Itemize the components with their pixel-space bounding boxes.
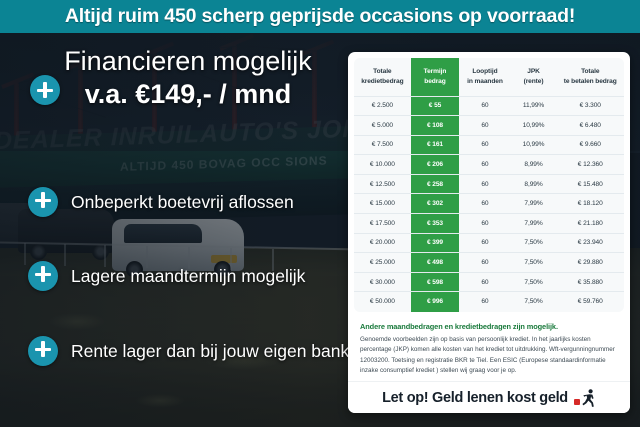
column-header-looptijd: Looptijdin maanden bbox=[459, 58, 510, 96]
headline-line-1: Financieren mogelijk bbox=[28, 47, 348, 76]
table-row: € 5.000€ 1086010,99%€ 6.480 bbox=[354, 116, 624, 136]
table-cell: € 258 bbox=[411, 174, 460, 194]
table-cell: 60 bbox=[459, 194, 510, 214]
bullet-label: Lagere maandtermijn mogelijk bbox=[71, 266, 305, 287]
plus-circle-icon bbox=[28, 336, 58, 366]
table-cell: € 12.500 bbox=[354, 174, 411, 194]
table-cell: 10,99% bbox=[511, 116, 557, 136]
table-cell: € 108 bbox=[411, 116, 460, 136]
table-cell: € 21.180 bbox=[556, 214, 624, 234]
top-promo-banner: Altijd ruim 450 scherp geprijsde occasio… bbox=[0, 0, 640, 33]
promo-bullet-lagere-maandtermijn-mogelijk: Lagere maandtermijn mogelijk bbox=[28, 259, 348, 293]
table-cell: € 2.500 bbox=[354, 96, 411, 116]
table-cell: 60 bbox=[459, 135, 510, 155]
table-cell: € 18.120 bbox=[556, 194, 624, 214]
plus-circle-icon bbox=[28, 187, 58, 217]
headline-line-2: v.a. €149,- / mnd bbox=[28, 79, 348, 110]
table-cell: € 10.000 bbox=[354, 155, 411, 175]
banner-text: Altijd ruim 450 scherp geprijsde occasio… bbox=[65, 5, 575, 28]
table-cell: € 9.660 bbox=[556, 135, 624, 155]
rates-table-body: € 2.500€ 556011,99%€ 3.300€ 5.000€ 10860… bbox=[354, 96, 624, 312]
table-cell: € 55 bbox=[411, 96, 460, 116]
column-header-totale-kredietbedrag: Totalekredietbedrag bbox=[354, 58, 411, 96]
table-cell: 60 bbox=[459, 155, 510, 175]
promo-bullet-onbeperkt-boetevrij-aflossen: Onbeperkt boetevrij aflossen bbox=[28, 185, 348, 219]
column-header-totale-te-betalen-bedrag: Totalete betalen bedrag bbox=[556, 58, 624, 96]
note-body: Genoemde voorbeelden zijn op basis van p… bbox=[360, 335, 618, 376]
table-cell: € 302 bbox=[411, 194, 460, 214]
loan-warning-bar: Let op! Geld lenen kost geld bbox=[348, 381, 630, 413]
table-cell: € 17.500 bbox=[354, 214, 411, 234]
table-row: € 30.000€ 598607,50%€ 35.880 bbox=[354, 272, 624, 292]
table-cell: 7,99% bbox=[511, 214, 557, 234]
warning-text: Let op! Geld lenen kost geld bbox=[382, 390, 568, 406]
column-header-jkp: JPK(rente) bbox=[511, 58, 557, 96]
table-cell: € 161 bbox=[411, 135, 460, 155]
promo-headline: Financieren mogelijk v.a. €149,- / mnd bbox=[28, 47, 348, 110]
table-row: € 7.500€ 1616010,99%€ 9.660 bbox=[354, 135, 624, 155]
table-row: € 50.000€ 996607,50%€ 59.760 bbox=[354, 292, 624, 312]
running-man-with-ball-icon bbox=[574, 389, 596, 407]
table-cell: € 598 bbox=[411, 272, 460, 292]
table-row: € 20.000€ 399607,50%€ 23.940 bbox=[354, 233, 624, 253]
table-row: € 17.500€ 353607,99%€ 21.180 bbox=[354, 214, 624, 234]
table-cell: 60 bbox=[459, 253, 510, 273]
table-cell: 60 bbox=[459, 292, 510, 312]
table-cell: € 20.000 bbox=[354, 233, 411, 253]
table-cell: 8,99% bbox=[511, 174, 557, 194]
table-cell: € 59.760 bbox=[556, 292, 624, 312]
table-row: € 12.500€ 258608,99%€ 15.480 bbox=[354, 174, 624, 194]
table-cell: 7,50% bbox=[511, 292, 557, 312]
table-cell: 60 bbox=[459, 174, 510, 194]
financing-rates-table: Totalekredietbedrag Termijnbedrag Loopti… bbox=[354, 58, 624, 312]
table-cell: € 206 bbox=[411, 155, 460, 175]
table-cell: 7,50% bbox=[511, 272, 557, 292]
column-header-termijn-bedrag: Termijnbedrag bbox=[411, 58, 460, 96]
table-cell: € 30.000 bbox=[354, 272, 411, 292]
plus-circle-icon bbox=[28, 261, 58, 291]
table-cell: € 23.940 bbox=[556, 233, 624, 253]
table-cell: 7,50% bbox=[511, 253, 557, 273]
table-header-row: Totalekredietbedrag Termijnbedrag Loopti… bbox=[354, 58, 624, 96]
table-cell: € 29.880 bbox=[556, 253, 624, 273]
table-cell: 60 bbox=[459, 96, 510, 116]
table-cell: € 353 bbox=[411, 214, 460, 234]
table-cell: 60 bbox=[459, 116, 510, 136]
table-cell: 60 bbox=[459, 214, 510, 234]
table-cell: € 15.480 bbox=[556, 174, 624, 194]
bullet-label: Onbeperkt boetevrij aflossen bbox=[71, 192, 294, 213]
table-cell: € 3.300 bbox=[556, 96, 624, 116]
table-cell: € 35.880 bbox=[556, 272, 624, 292]
promo-bullet-rente-lager-dan-bij-jouw-eigen-bank: Rente lager dan bij jouw eigen bank bbox=[28, 334, 348, 368]
bullet-label: Rente lager dan bij jouw eigen bank bbox=[71, 341, 349, 362]
table-cell: € 25.000 bbox=[354, 253, 411, 273]
table-row: € 25.000€ 498607,50%€ 29.880 bbox=[354, 253, 624, 273]
table-cell: € 5.000 bbox=[354, 116, 411, 136]
table-cell: 7,99% bbox=[511, 194, 557, 214]
table-cell: € 498 bbox=[411, 253, 460, 273]
rates-table-container: Totalekredietbedrag Termijnbedrag Loopti… bbox=[354, 58, 624, 312]
table-cell: € 50.000 bbox=[354, 292, 411, 312]
table-cell: € 399 bbox=[411, 233, 460, 253]
note-title: Andere maandbedragen en kredietbedragen … bbox=[360, 322, 618, 332]
table-cell: 8,99% bbox=[511, 155, 557, 175]
table-cell: € 15.000 bbox=[354, 194, 411, 214]
table-row: € 10.000€ 206608,99%€ 12.360 bbox=[354, 155, 624, 175]
table-cell: € 7.500 bbox=[354, 135, 411, 155]
table-cell: € 6.480 bbox=[556, 116, 624, 136]
table-cell: 7,50% bbox=[511, 233, 557, 253]
table-row: € 2.500€ 556011,99%€ 3.300 bbox=[354, 96, 624, 116]
table-cell: 60 bbox=[459, 233, 510, 253]
table-cell: 11,99% bbox=[511, 96, 557, 116]
hero-stage: DEALER INRUILAUTO'S JOHAN MEURE ALTIJD 4… bbox=[0, 33, 640, 427]
financing-card: Totalekredietbedrag Termijnbedrag Loopti… bbox=[348, 52, 630, 413]
table-row: € 15.000€ 302607,99%€ 18.120 bbox=[354, 194, 624, 214]
table-cell: € 996 bbox=[411, 292, 460, 312]
table-cell: 10,99% bbox=[511, 135, 557, 155]
table-cell: 60 bbox=[459, 272, 510, 292]
table-cell: € 12.360 bbox=[556, 155, 624, 175]
promo-content: Financieren mogelijk v.a. €149,- / mnd O… bbox=[0, 33, 352, 427]
